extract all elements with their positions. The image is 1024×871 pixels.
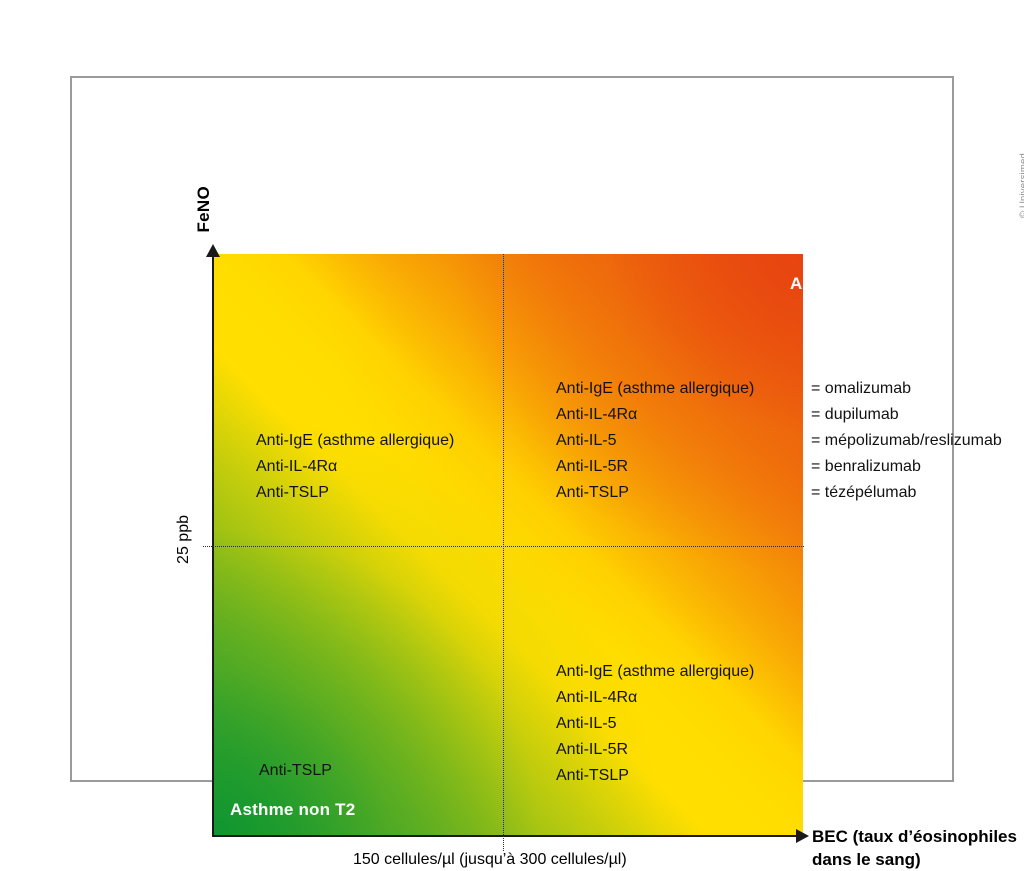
legend-entry: = tézépélumab [811,480,1002,506]
list-item: Anti-IL-5R [556,737,754,763]
legend-entry: = benralizumab [811,454,1002,480]
x-axis-arrow-icon [796,829,809,843]
list-item: Anti-IL-5 [556,711,754,737]
x-axis-line [214,835,803,837]
list-item: Anti-IL-4Rα [256,454,454,480]
x-axis-title: BEC (taux d’éosinophiles dans le sang) [812,826,1024,871]
x-axis-title-line-2: dans le sang) [812,849,1024,871]
drug-list-lower-left: Anti-TSLP [259,758,332,784]
list-item: Anti-IgE (asthme allergique) [556,376,754,402]
y-axis-title: FeNO [194,186,214,233]
list-item: Anti-TSLP [256,480,454,506]
quadrant-title-non-t2: Asthme non T2 [230,800,355,820]
drug-list-upper-left: Anti-IgE (asthme allergique) Anti-IL-4Rα… [256,428,454,506]
figure-frame: FeNO 25 ppb 150 cellules/µl (jusqu’à 300… [70,76,954,782]
vertical-threshold-divider [503,254,504,851]
x-axis-threshold-label: 150 cellules/µl (jusqu’à 300 cellules/µl… [353,851,627,869]
legend-entry: = omalizumab [811,376,1002,402]
y-axis-arrow-icon [206,244,220,257]
list-item: Anti-IgE (asthme allergique) [556,659,754,685]
list-item: Anti-IgE (asthme allergique) [256,428,454,454]
y-axis-threshold-label: 25 ppb [175,515,193,564]
list-item: Anti-IL-5 [556,428,754,454]
list-item: Anti-IL-5R [556,454,754,480]
list-item: Anti-TSLP [556,480,754,506]
drug-list-upper-right: Anti-IgE (asthme allergique) Anti-IL-4Rα… [556,376,754,506]
x-axis-title-line-1: BEC (taux d’éosinophiles [812,826,1024,849]
list-item: Anti-TSLP [556,763,754,789]
quadrant-title-type-2: Asthme de type 2 [790,274,934,294]
copyright-credit: © Universimed [1018,153,1024,218]
legend-drug-names: = omalizumab = dupilumab = mépolizumab/r… [811,376,1002,506]
list-item: Anti-IL-4Rα [556,685,754,711]
list-item: Anti-IL-4Rα [556,402,754,428]
list-item: Anti-TSLP [259,758,332,784]
legend-entry: = mépolizumab/reslizumab [811,428,1002,454]
horizontal-threshold-divider [203,546,804,547]
drug-list-lower-right: Anti-IgE (asthme allergique) Anti-IL-4Rα… [556,659,754,789]
legend-entry: = dupilumab [811,402,1002,428]
